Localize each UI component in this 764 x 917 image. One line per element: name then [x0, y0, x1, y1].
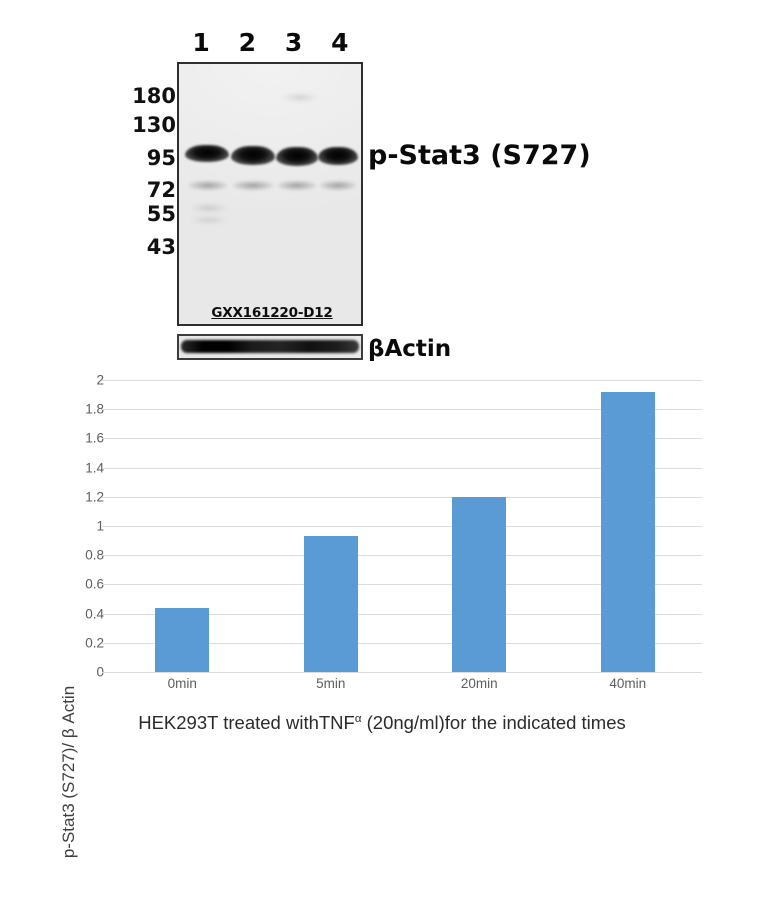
gridline-0: [102, 672, 702, 673]
bar-slot-5min: [257, 380, 406, 672]
mw-marker-72: 72: [147, 178, 176, 202]
y-tick-label-0: 0: [58, 665, 104, 680]
membrane-background: [179, 64, 361, 324]
bar-slot-0min: [108, 380, 257, 672]
band-nonspecific-lane3: [278, 181, 316, 190]
band-nonspecific-lane4: [320, 181, 356, 190]
bar-series: [108, 380, 702, 672]
bar-0min[interactable]: [155, 608, 209, 672]
band-nonspecific-lane1: [189, 181, 227, 190]
blot-membrane: GXX161220-D12: [177, 62, 363, 326]
lane-label-4: 4: [317, 28, 363, 60]
y-tick-label-1: 1: [58, 519, 104, 534]
bar-slot-40min: [554, 380, 703, 672]
caption-text-before: HEK293T treated withTNF: [138, 712, 355, 733]
y-tick-label-2: 2: [58, 373, 104, 388]
band-ghost-lane1-low: [191, 204, 227, 212]
y-tick-label-1.2: 1.2: [58, 489, 104, 504]
mw-marker-130: 130: [132, 113, 176, 137]
lane-label-1: 1: [178, 28, 224, 60]
x-tick-label-0min: 0min: [108, 676, 257, 691]
band-pstat3-lane1: [185, 145, 229, 162]
y-tick-label-1.8: 1.8: [58, 402, 104, 417]
band-beta-actin: [181, 340, 359, 353]
band-pstat3-lane4: [318, 147, 358, 165]
western-blot-panel: 1 2 3 4 180 130 95 72 55 43 GXX161220-D1…: [0, 0, 764, 372]
mw-marker-43: 43: [147, 235, 176, 259]
y-axis-tick-labels: 21.81.61.41.210.80.60.40.20: [58, 380, 104, 672]
mw-marker-95: 95: [147, 146, 176, 170]
band-ghost-lane1-lower: [191, 217, 227, 223]
y-tick-label-0.8: 0.8: [58, 548, 104, 563]
x-axis-tick-labels: 0min5min20min40min: [108, 676, 702, 691]
x-tick-label-40min: 40min: [554, 676, 703, 691]
band-pstat3-lane2: [231, 146, 275, 165]
bar-slot-20min: [405, 380, 554, 672]
mw-marker-55: 55: [147, 202, 176, 226]
loading-control-membrane: [177, 334, 363, 360]
molecular-weight-ladder: 180 130 95 72 55 43: [132, 84, 176, 256]
bar-40min[interactable]: [601, 392, 655, 672]
caption-text-after: (20ng/ml)for the indicated times: [361, 712, 625, 733]
y-tick-label-1.6: 1.6: [58, 431, 104, 446]
chart-plot-area: [108, 380, 702, 672]
band-ghost-lane3: [283, 94, 317, 101]
x-tick-label-5min: 5min: [257, 676, 406, 691]
blot-target-label: p-Stat3 (S727): [368, 140, 591, 171]
lane-label-3: 3: [271, 28, 317, 60]
quantification-chart: p-Stat3 (S727)/ β Actin 21.81.61.41.210.…: [0, 372, 764, 764]
y-tick-label-0.6: 0.6: [58, 577, 104, 592]
loading-control-label: βActin: [368, 336, 451, 362]
blot-lot-code: GXX161220-D12: [185, 305, 359, 321]
bar-5min[interactable]: [304, 536, 358, 672]
band-pstat3-lane3: [276, 147, 318, 166]
y-tick-label-0.2: 0.2: [58, 635, 104, 650]
y-tick-label-0.4: 0.4: [58, 606, 104, 621]
lane-label-2: 2: [224, 28, 270, 60]
y-tick-label-1.4: 1.4: [58, 460, 104, 475]
x-tick-label-20min: 20min: [405, 676, 554, 691]
bar-20min[interactable]: [452, 497, 506, 672]
chart-caption: HEK293T treated withTNFα (20ng/ml)for th…: [0, 712, 764, 734]
band-nonspecific-lane2: [233, 181, 273, 190]
mw-marker-180: 180: [132, 84, 176, 108]
lane-label-row: 1 2 3 4: [178, 28, 363, 60]
